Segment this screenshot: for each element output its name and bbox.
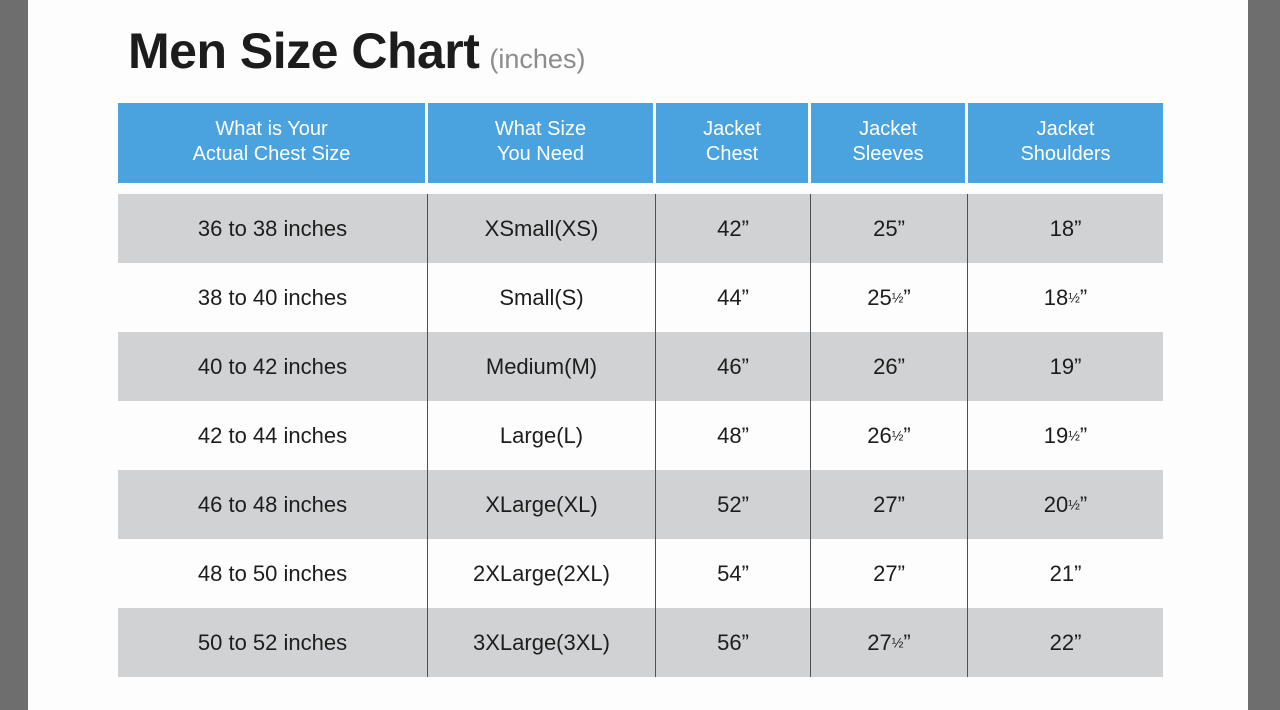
table-row: 50 to 52 inches3XLarge(3XL)56”27½”22” (118, 608, 1163, 677)
cell-chest-range: 42 to 44 inches (118, 401, 428, 470)
cell-jacket-shoulders-whole: 21 (1050, 561, 1074, 586)
column-header-1: What SizeYou Need (428, 103, 656, 183)
cell-jacket-shoulders: 22” (968, 608, 1163, 677)
cell-jacket-chest: 46” (656, 332, 811, 401)
column-header-line2: You Need (434, 142, 647, 167)
cell-chest-range: 48 to 50 inches (118, 539, 428, 608)
cell-size-label: 3XLarge(3XL) (428, 608, 656, 677)
cell-jacket-sleeves-fraction: ½ (892, 289, 904, 305)
cell-jacket-shoulders-whole: 18 (1044, 285, 1068, 310)
cell-jacket-shoulders-whole: 19 (1050, 354, 1074, 379)
cell-jacket-shoulders-inch-mark: ” (1080, 285, 1087, 310)
header-gap (118, 183, 1163, 194)
cell-jacket-sleeves: 27” (811, 539, 968, 608)
table-row: 36 to 38 inchesXSmall(XS)42”25”18” (118, 194, 1163, 263)
cell-jacket-shoulders: 20½” (968, 470, 1163, 539)
cell-jacket-sleeves: 26½” (811, 401, 968, 470)
cell-jacket-sleeves-whole: 27 (873, 561, 897, 586)
table-row: 48 to 50 inches2XLarge(2XL)54”27”21” (118, 539, 1163, 608)
cell-jacket-shoulders-inch-mark: ” (1074, 216, 1081, 241)
column-header-4: JacketShoulders (968, 103, 1163, 183)
column-header-3: JacketSleeves (811, 103, 968, 183)
cell-jacket-shoulders: 18½” (968, 263, 1163, 332)
cell-jacket-sleeves-whole: 26 (867, 423, 891, 448)
cell-jacket-shoulders-fraction: ½ (1068, 427, 1080, 443)
cell-jacket-chest: 56” (656, 608, 811, 677)
cell-jacket-shoulders-inch-mark: ” (1080, 492, 1087, 517)
table-row: 42 to 44 inchesLarge(L)48”26½”19½” (118, 401, 1163, 470)
cell-jacket-chest: 48” (656, 401, 811, 470)
cell-jacket-shoulders-fraction: ½ (1068, 496, 1080, 512)
column-header-2: JacketChest (656, 103, 811, 183)
column-header-line1: Jacket (817, 117, 959, 142)
cell-jacket-sleeves-inch-mark: ” (898, 561, 905, 586)
cell-size-label: Medium(M) (428, 332, 656, 401)
cell-jacket-sleeves-whole: 27 (867, 630, 891, 655)
cell-chest-range: 46 to 48 inches (118, 470, 428, 539)
cell-jacket-sleeves-inch-mark: ” (903, 630, 910, 655)
table-row: 40 to 42 inchesMedium(M)46”26”19” (118, 332, 1163, 401)
cell-jacket-shoulders-whole: 22 (1050, 630, 1074, 655)
cell-jacket-shoulders-whole: 19 (1044, 423, 1068, 448)
header-row: What is YourActual Chest SizeWhat SizeYo… (118, 103, 1163, 183)
cell-jacket-shoulders-inch-mark: ” (1074, 354, 1081, 379)
cell-jacket-sleeves-inch-mark: ” (898, 216, 905, 241)
cell-jacket-sleeves: 25” (811, 194, 968, 263)
cell-size-label: XSmall(XS) (428, 194, 656, 263)
cell-jacket-shoulders: 19” (968, 332, 1163, 401)
cell-jacket-sleeves-whole: 27 (873, 492, 897, 517)
slide-canvas: Men Size Chart (inches) What is YourActu… (28, 0, 1248, 710)
cell-jacket-sleeves-fraction: ½ (892, 427, 904, 443)
page-title-main: Men Size Chart (128, 22, 479, 80)
cell-jacket-sleeves-inch-mark: ” (903, 285, 910, 310)
cell-jacket-shoulders-whole: 18 (1050, 216, 1074, 241)
cell-jacket-sleeves: 27” (811, 470, 968, 539)
cell-jacket-shoulders: 21” (968, 539, 1163, 608)
cell-chest-range: 50 to 52 inches (118, 608, 428, 677)
cell-size-label: XLarge(XL) (428, 470, 656, 539)
table-row: 46 to 48 inchesXLarge(XL)52”27”20½” (118, 470, 1163, 539)
cell-chest-range: 40 to 42 inches (118, 332, 428, 401)
cell-jacket-sleeves-inch-mark: ” (903, 423, 910, 448)
cell-jacket-chest: 54” (656, 539, 811, 608)
cell-size-label: Large(L) (428, 401, 656, 470)
table-body: 36 to 38 inchesXSmall(XS)42”25”18”38 to … (118, 183, 1163, 677)
table-row: 38 to 40 inchesSmall(S)44”25½”18½” (118, 263, 1163, 332)
cell-chest-range: 38 to 40 inches (118, 263, 428, 332)
cell-jacket-chest: 42” (656, 194, 811, 263)
column-header-line1: Jacket (662, 117, 802, 142)
cell-chest-range: 36 to 38 inches (118, 194, 428, 263)
column-header-line2: Actual Chest Size (124, 142, 419, 167)
page-title: Men Size Chart (inches) (128, 22, 585, 80)
cell-jacket-sleeves: 25½” (811, 263, 968, 332)
cell-size-label: 2XLarge(2XL) (428, 539, 656, 608)
cell-jacket-shoulders-inch-mark: ” (1080, 423, 1087, 448)
cell-jacket-sleeves-fraction: ½ (892, 634, 904, 650)
cell-jacket-chest: 44” (656, 263, 811, 332)
column-header-line2: Chest (662, 142, 802, 167)
column-header-line2: Sleeves (817, 142, 959, 167)
column-header-0: What is YourActual Chest Size (118, 103, 428, 183)
table-header: What is YourActual Chest SizeWhat SizeYo… (118, 103, 1163, 183)
cell-size-label: Small(S) (428, 263, 656, 332)
letterbox-left-bar (0, 0, 28, 710)
cell-jacket-chest: 52” (656, 470, 811, 539)
cell-jacket-shoulders: 18” (968, 194, 1163, 263)
column-header-line1: What is Your (124, 117, 419, 142)
page-title-unit: (inches) (489, 44, 585, 75)
cell-jacket-shoulders: 19½” (968, 401, 1163, 470)
letterbox-right-bar (1248, 0, 1280, 710)
cell-jacket-shoulders-inch-mark: ” (1074, 630, 1081, 655)
cell-jacket-shoulders-whole: 20 (1044, 492, 1068, 517)
cell-jacket-shoulders-inch-mark: ” (1074, 561, 1081, 586)
cell-jacket-sleeves-whole: 25 (867, 285, 891, 310)
header-gap-cell (118, 183, 1163, 194)
cell-jacket-sleeves-whole: 26 (873, 354, 897, 379)
cell-jacket-shoulders-fraction: ½ (1068, 289, 1080, 305)
cell-jacket-sleeves: 27½” (811, 608, 968, 677)
cell-jacket-sleeves-whole: 25 (873, 216, 897, 241)
column-header-line2: Shoulders (974, 142, 1157, 167)
size-chart-table: What is YourActual Chest SizeWhat SizeYo… (118, 103, 1163, 677)
cell-jacket-sleeves-inch-mark: ” (898, 354, 905, 379)
column-header-line1: What Size (434, 117, 647, 142)
cell-jacket-sleeves: 26” (811, 332, 968, 401)
cell-jacket-sleeves-inch-mark: ” (898, 492, 905, 517)
column-header-line1: Jacket (974, 117, 1157, 142)
